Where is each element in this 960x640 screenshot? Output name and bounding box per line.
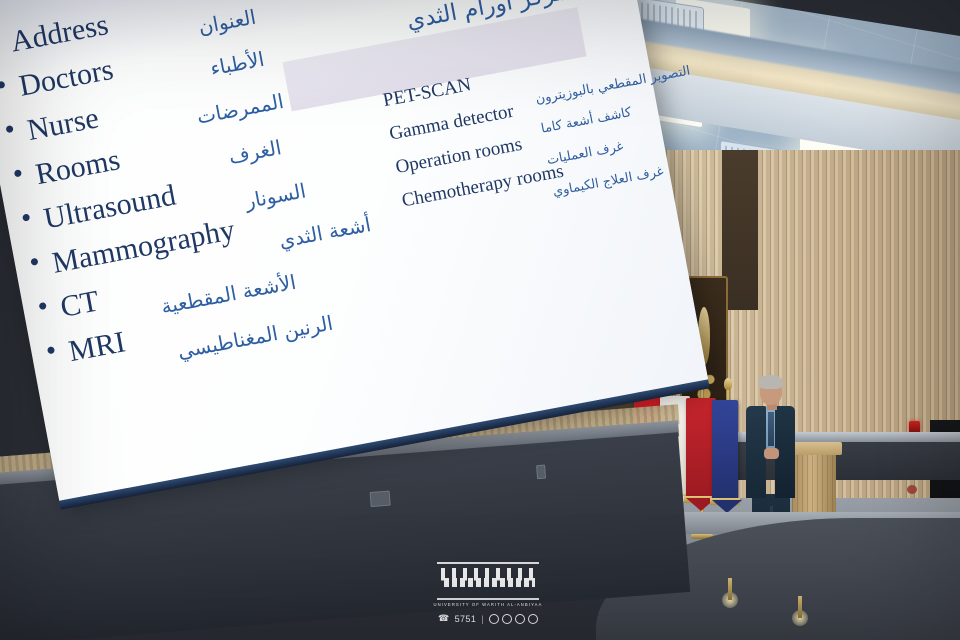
university-logo-icon — [437, 562, 539, 600]
presenter-tie — [768, 412, 774, 446]
bullet-dot-icon — [39, 301, 47, 309]
bullet-label-en: CT — [58, 284, 102, 323]
phone-icon: ☎ — [438, 613, 450, 624]
phone-number: 5751 — [455, 614, 477, 624]
stage-rail-post — [728, 578, 732, 600]
photo-scene: ast Cancer Centre مركز أورام الثدي Addre… — [0, 0, 960, 640]
university-name: UNIVERSITY OF WARITH AL-ANBIYAA — [432, 602, 544, 607]
divider: | — [481, 614, 484, 624]
logo-kufic-base — [441, 578, 535, 587]
watermark: UNIVERSITY OF WARITH AL-ANBIYAA ☎ 5751 | — [432, 562, 544, 624]
facebook-icon[interactable] — [489, 614, 499, 624]
bullet-dot-icon — [14, 169, 22, 177]
bullet-dot-icon — [30, 257, 38, 265]
flag-fringe — [710, 498, 740, 505]
presenter-jacket-left — [746, 406, 766, 498]
instagram-icon[interactable] — [502, 614, 512, 624]
wall-socket-icon — [370, 491, 391, 507]
bullet-dot-icon — [0, 80, 5, 88]
wall-indicator-light-icon — [907, 485, 917, 494]
youtube-icon[interactable] — [515, 614, 525, 624]
presenter-hair — [758, 375, 783, 389]
stage-rail-post — [798, 596, 802, 618]
bullet-dot-icon — [22, 213, 30, 221]
bullet-dot-icon — [47, 346, 55, 354]
blue-flag — [712, 400, 738, 500]
bullet-dot-icon — [5, 125, 13, 133]
social-icon-group — [489, 614, 538, 624]
presenter-hands — [764, 448, 779, 459]
telegram-icon[interactable] — [528, 614, 538, 624]
wall-socket-icon — [536, 465, 546, 480]
watermark-contact: ☎ 5751 | — [432, 613, 544, 624]
flagpole-finial — [724, 378, 732, 390]
